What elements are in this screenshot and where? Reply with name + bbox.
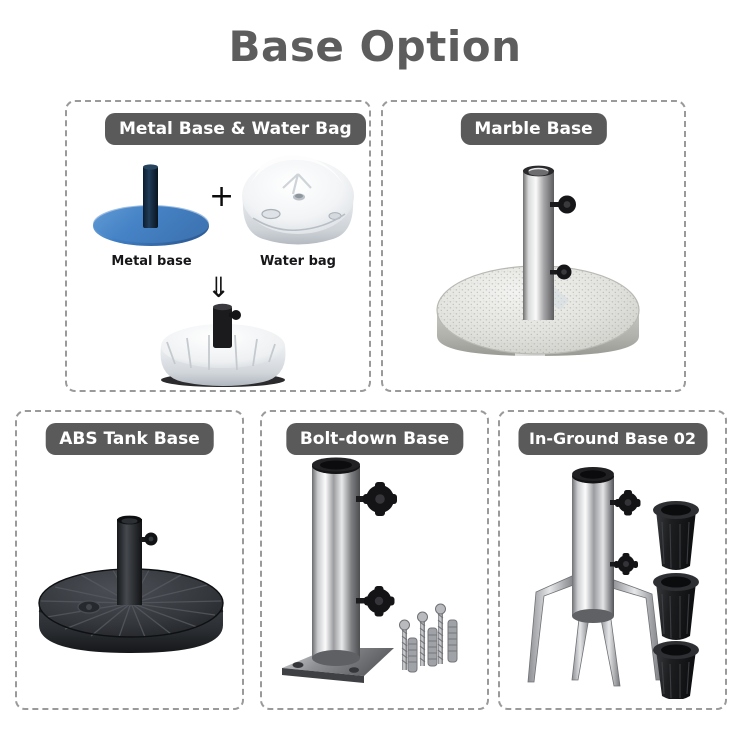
panel-label-abs-tank-base: ABS Tank Base: [45, 423, 214, 455]
marble-base-icon: [419, 150, 657, 380]
page-title: Base Option: [0, 22, 750, 71]
abs-tank-base-icon: [31, 507, 231, 667]
caption-metal-base: Metal base: [89, 254, 214, 269]
panel-marble-base[interactable]: Marble Base: [381, 100, 686, 392]
panel-label-marble-base: Marble Base: [460, 113, 606, 145]
panel-in-ground-base[interactable]: In-Ground Base 02: [498, 410, 727, 710]
plus-operator-icon: +: [209, 182, 234, 212]
caption-water-bag: Water bag: [233, 254, 363, 269]
bolt-down-base-icon: [276, 452, 481, 697]
water-bag-icon: [233, 140, 363, 252]
arrow-down-icon: ⇓: [207, 274, 230, 302]
assembled-water-bag-base-icon: [143, 302, 303, 388]
panel-abs-tank-base[interactable]: ABS Tank Base: [15, 410, 244, 710]
in-ground-base-icon: [510, 454, 720, 699]
panel-metal-base-water-bag[interactable]: Metal Base & Water Bag Metal base: [65, 100, 371, 392]
metal-base-disc-icon: [89, 158, 214, 250]
panel-bolt-down-base[interactable]: Bolt-down Base: [260, 410, 489, 710]
panel-label-in-ground-base: In-Ground Base 02: [518, 423, 707, 455]
panel-label-bolt-down-base: Bolt-down Base: [286, 423, 463, 455]
